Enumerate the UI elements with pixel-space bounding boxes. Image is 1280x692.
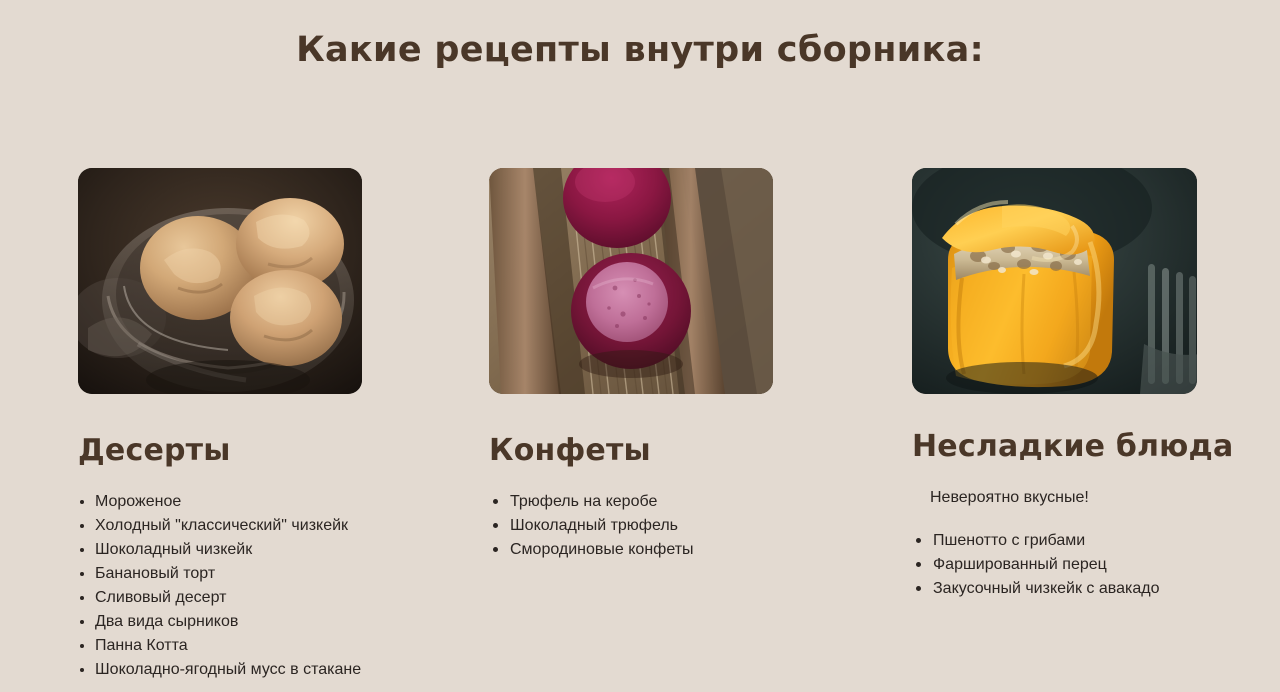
list-item-label: Сливовый десерт bbox=[95, 589, 226, 606]
bullet-icon bbox=[80, 668, 84, 672]
list-item: Трюфель на керобе bbox=[489, 490, 789, 514]
list-item: Банановый торт bbox=[78, 562, 378, 586]
bullet-icon bbox=[916, 562, 921, 567]
list-item-label: Пшенотто с грибами bbox=[933, 532, 1085, 549]
list-item: Два вида сырников bbox=[78, 610, 378, 634]
list-item-label: Панна Котта bbox=[95, 637, 188, 654]
bullet-icon bbox=[493, 523, 498, 528]
list-item: Смородиновые конфеты bbox=[489, 538, 789, 562]
recipe-column-savory: Несладкие блюда Невероятно вкусные! Пшен… bbox=[912, 168, 1242, 601]
page-title: Какие рецепты внутри сборника: bbox=[0, 30, 1280, 70]
candy-photo bbox=[489, 168, 773, 394]
list-item-label: Смородиновые конфеты bbox=[510, 541, 694, 558]
bullet-icon bbox=[80, 572, 84, 576]
list-item-label: Банановый торт bbox=[95, 565, 215, 582]
truffles-image bbox=[489, 168, 773, 394]
savory-photo bbox=[912, 168, 1197, 394]
stuffed-pepper-image bbox=[912, 168, 1197, 394]
list-item: Шоколадный чизкейк bbox=[78, 538, 378, 562]
list-item: Шоколадный трюфель bbox=[489, 514, 789, 538]
bullet-icon bbox=[80, 548, 84, 552]
list-item: Мороженое bbox=[78, 490, 378, 514]
bullet-icon bbox=[80, 524, 84, 528]
bullet-icon bbox=[80, 596, 84, 600]
section-heading: Несладкие блюда bbox=[912, 429, 1242, 464]
list-item-label: Шоколадно-ягодный мусс в стакане bbox=[95, 661, 361, 678]
list-item-label: Шоколадный чизкейк bbox=[95, 541, 252, 558]
list-item-label: Два вида сырников bbox=[95, 613, 238, 630]
list-item: Холодный "классический" чизкейк bbox=[78, 514, 378, 538]
bullet-icon bbox=[80, 644, 84, 648]
bullet-icon bbox=[493, 499, 498, 504]
bullet-icon bbox=[916, 586, 921, 591]
bullet-icon bbox=[80, 500, 84, 504]
recipe-list-candies: Трюфель на керобе Шоколадный трюфель Смо… bbox=[489, 490, 789, 562]
recipe-list-savory: Пшенотто с грибами Фаршированный перец З… bbox=[912, 529, 1242, 601]
bullet-icon bbox=[916, 538, 921, 543]
recipe-columns: Десерты Мороженое Холодный "классический… bbox=[0, 168, 1280, 692]
list-item: Фаршированный перец bbox=[912, 553, 1242, 577]
list-item-label: Шоколадный трюфель bbox=[510, 517, 678, 534]
list-item: Закусочный чизкейк с авакадо bbox=[912, 577, 1242, 601]
dessert-photo bbox=[78, 168, 362, 394]
recipe-column-candies: Конфеты Трюфель на керобе Шоколадный трю… bbox=[489, 168, 789, 562]
recipe-list-desserts: Мороженое Холодный "классический" чизкей… bbox=[78, 490, 378, 682]
bullet-icon bbox=[493, 547, 498, 552]
list-item-label: Мороженое bbox=[95, 493, 181, 510]
bullet-icon bbox=[80, 620, 84, 624]
list-item: Панна Котта bbox=[78, 634, 378, 658]
list-item-label: Трюфель на керобе bbox=[510, 493, 657, 510]
section-heading: Десерты bbox=[78, 433, 378, 468]
list-item-label: Фаршированный перец bbox=[933, 556, 1107, 573]
list-item: Пшенотто с грибами bbox=[912, 529, 1242, 553]
list-item: Сливовый десерт bbox=[78, 586, 378, 610]
list-item: Шоколадно-ягодный мусс в стакане bbox=[78, 658, 378, 682]
section-heading: Конфеты bbox=[489, 433, 789, 468]
list-item-label: Закусочный чизкейк с авакадо bbox=[933, 580, 1159, 597]
ice-cream-image bbox=[78, 168, 362, 394]
savory-intro-text: Невероятно вкусные! bbox=[930, 487, 1242, 509]
recipe-column-desserts: Десерты Мороженое Холодный "классический… bbox=[78, 168, 378, 682]
list-item-label: Холодный "классический" чизкейк bbox=[95, 517, 348, 534]
